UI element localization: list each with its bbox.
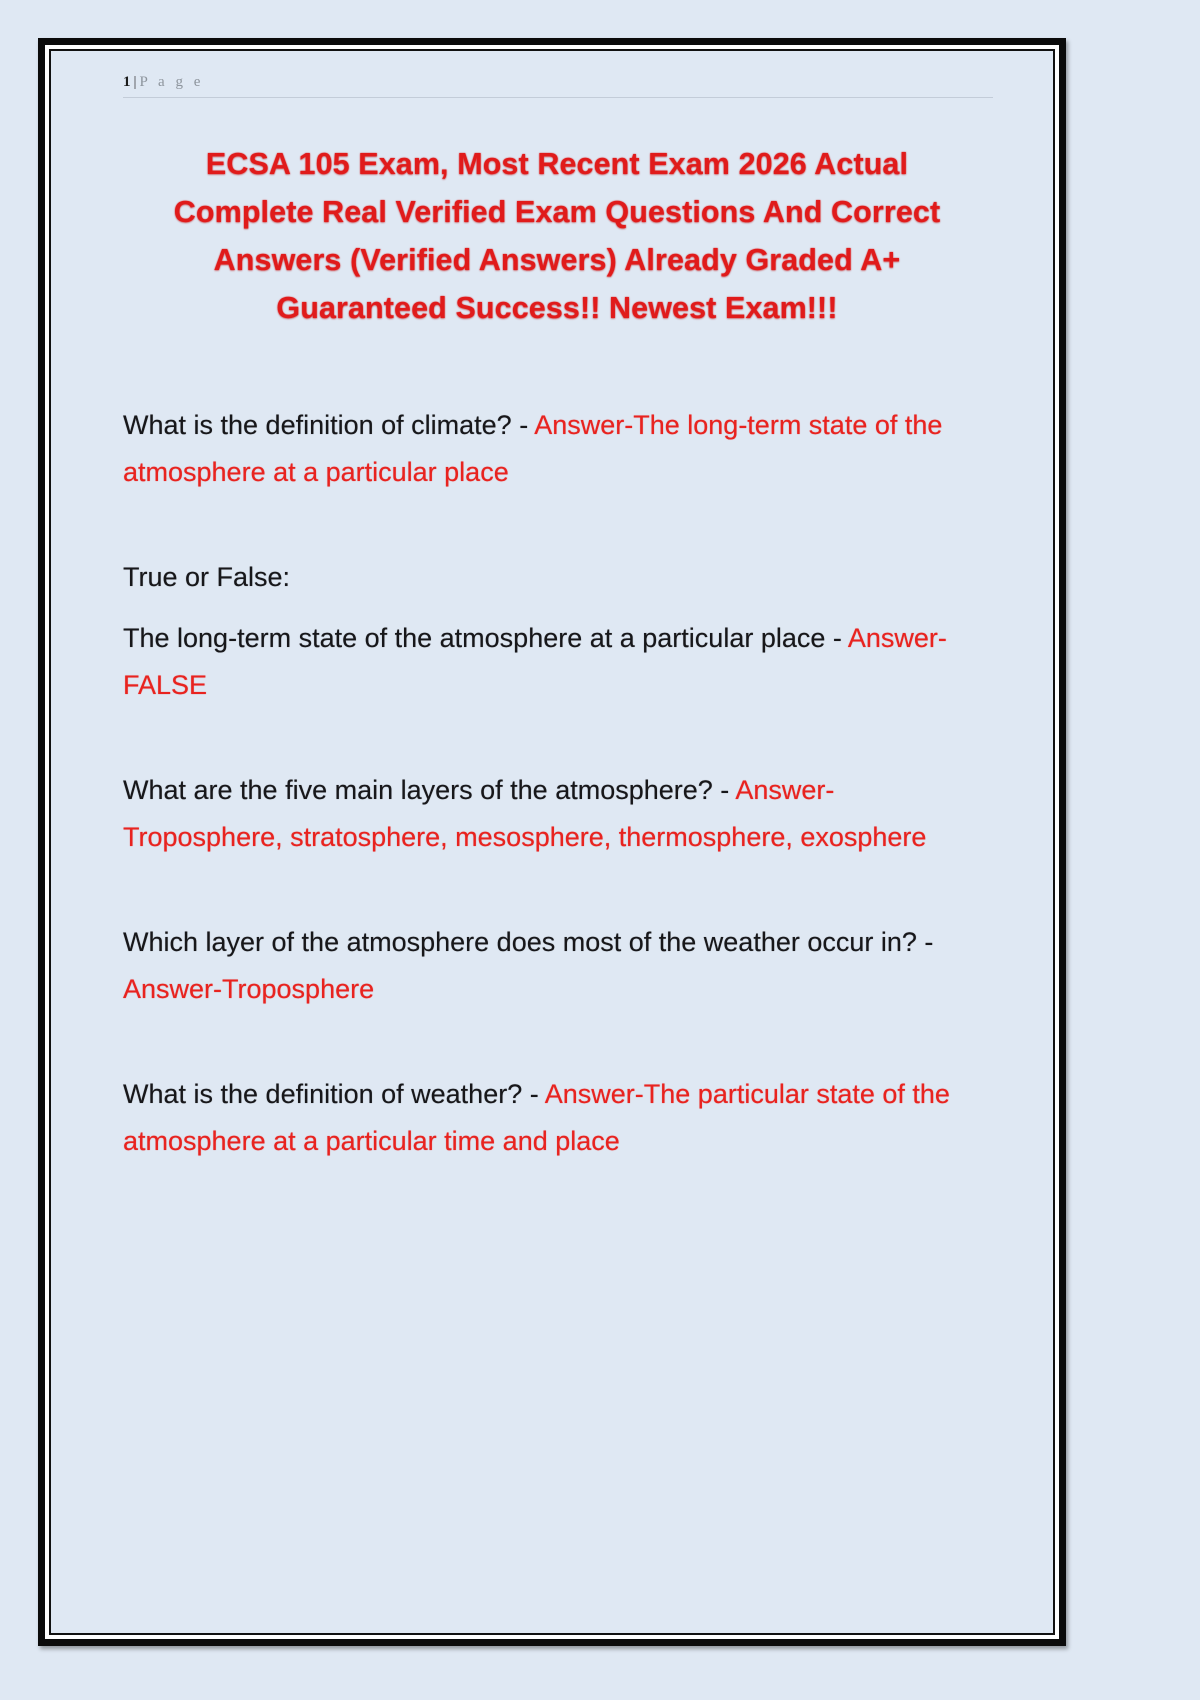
page-number: 1 (123, 74, 131, 90)
qa-block: What are the five main layers of the atm… (123, 767, 983, 861)
title-line-3: Answers (Verified Answers) Already Grade… (139, 236, 975, 284)
document-page-inner-border: 1|P a g e ECSA 105 Exam, Most Recent Exa… (49, 49, 1055, 1635)
title-line-1: ECSA 105 Exam, Most Recent Exam 2026 Act… (139, 140, 975, 188)
question-text: What are the five main layers of the atm… (123, 775, 713, 805)
page-canvas: 1|P a g e ECSA 105 Exam, Most Recent Exa… (0, 0, 1200, 1700)
question-answer-dash: - (917, 927, 934, 957)
title-line-4: Guaranteed Success!! Newest Exam!!! (139, 284, 975, 332)
question-stem: True or False: (123, 554, 983, 601)
question-text: What is the definition of weather? (123, 1079, 522, 1109)
question-answer-dash: - (512, 410, 535, 440)
question-answer-list: What is the definition of climate? - Ans… (123, 402, 993, 1165)
page-header: 1|P a g e (123, 73, 993, 98)
question-text: What is the definition of climate? (123, 410, 512, 440)
page-header-separator: | (131, 74, 140, 90)
question-answer-dash: - (713, 775, 736, 805)
qa-block: What is the definition of weather? - Ans… (123, 1071, 983, 1165)
question-text: Which layer of the atmosphere does most … (123, 927, 917, 957)
qa-block: Which layer of the atmosphere does most … (123, 919, 983, 1013)
page-header-label: P a g e (140, 74, 204, 90)
document-title: ECSA 105 Exam, Most Recent Exam 2026 Act… (139, 140, 975, 332)
title-line-2: Complete Real Verified Exam Questions An… (139, 188, 975, 236)
document-page-content: 1|P a g e ECSA 105 Exam, Most Recent Exa… (51, 51, 1053, 1633)
question-answer-dash: - (522, 1079, 545, 1109)
document-page-frame: 1|P a g e ECSA 105 Exam, Most Recent Exa… (38, 38, 1066, 1646)
question-answer-dash: - (825, 623, 848, 653)
qa-block: True or False:The long-term state of the… (123, 554, 983, 709)
qa-block: What is the definition of climate? - Ans… (123, 402, 983, 496)
question-text: The long-term state of the atmosphere at… (123, 623, 825, 653)
answer-text: Answer-Troposphere (123, 974, 374, 1004)
